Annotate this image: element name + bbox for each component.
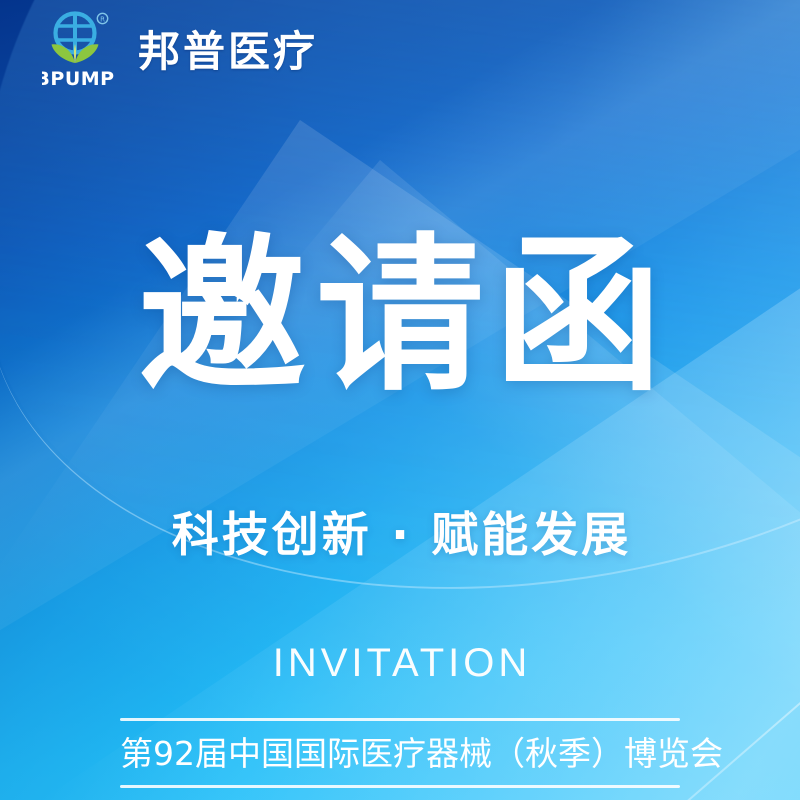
company-name: 邦普医疗	[138, 31, 318, 73]
invitation-poster: R BPUMP 邦普医疗 邀请函 科技创新 · 赋能发展 INVITATION …	[0, 0, 800, 800]
bpump-globe-leaf-logo-icon: R BPUMP	[42, 11, 120, 93]
event-footer: 第92届中国国际医疗器械（秋季）博览会	[120, 718, 680, 788]
event-name: 第92届中国国际医疗器械（秋季）博览会	[120, 721, 680, 785]
poster-subtitle: 科技创新 · 赋能发展	[0, 508, 800, 564]
brand-header: R BPUMP 邦普医疗	[0, 0, 800, 104]
page-title: 邀请函	[0, 232, 800, 400]
logo-wordmark: BPUMP	[42, 68, 115, 90]
poster-content: 邀请函 科技创新 · 赋能发展 INVITATION 第92届中国国际医疗器械（…	[0, 0, 800, 800]
divider-bottom	[120, 785, 680, 788]
invitation-english-label: INVITATION	[0, 643, 800, 683]
svg-text:R: R	[100, 15, 105, 23]
